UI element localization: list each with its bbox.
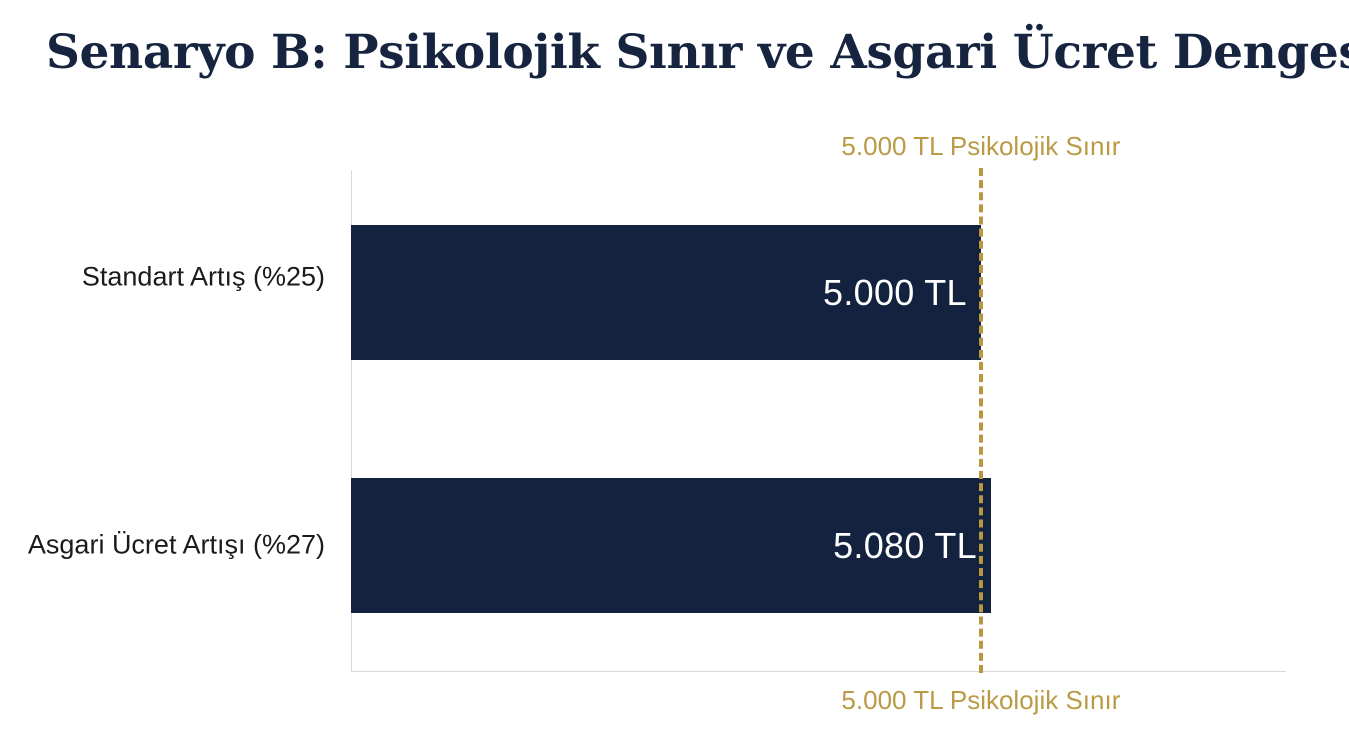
psychological-limit-dashed-line (979, 168, 983, 673)
x-axis-line (351, 671, 1286, 672)
bar-standart-artis[interactable]: 5.000 TL (351, 225, 981, 360)
psychological-limit-label-bottom: 5.000 TL Psikolojik Sınır (841, 685, 1120, 716)
bar-asgari-ucret-artisi[interactable]: 5.080 TL (351, 478, 991, 613)
chart-figure: Senaryo B: Psikolojik Sınır ve Asgari Üc… (0, 0, 1349, 730)
y-axis-tick-label-standart-artis: Standart Artış (%25) (0, 262, 325, 293)
bar-value-label-asgari-ucret-artisi: 5.080 TL (833, 525, 977, 567)
bar-value-label-standart-artis: 5.000 TL (823, 272, 967, 314)
psychological-limit-label-top: 5.000 TL Psikolojik Sınır (841, 131, 1120, 162)
plot-area: 5.000 TL 5.080 TL (351, 170, 1286, 672)
chart-title: Senaryo B: Psikolojik Sınır ve Asgari Üc… (46, 28, 1306, 77)
y-axis-tick-label-asgari-ucret-artisi: Asgari Ücret Artışı (%27) (0, 530, 325, 561)
